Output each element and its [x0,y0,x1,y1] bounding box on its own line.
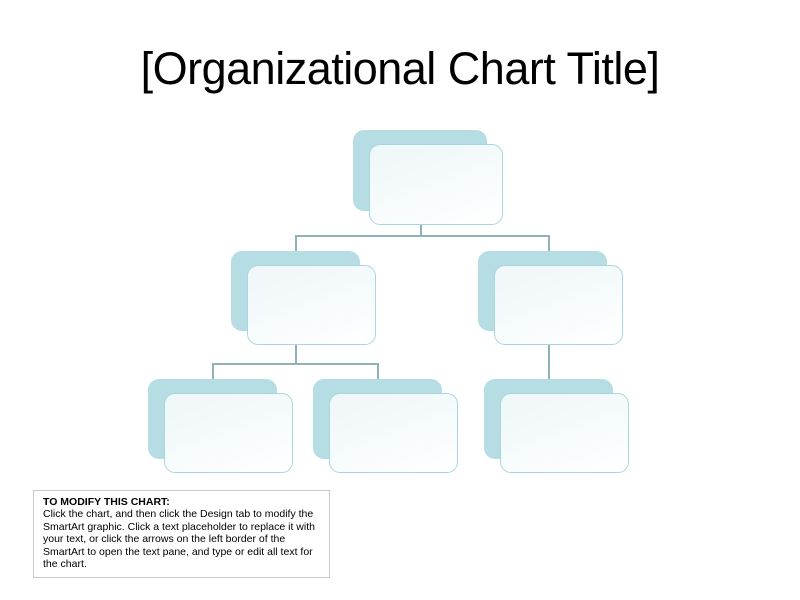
org-node-label[interactable] [164,393,293,473]
org-node-level2-left[interactable] [231,251,360,331]
slide-canvas: [Organizational Chart Title] [0,0,800,600]
org-node-level2-right[interactable] [478,251,607,331]
instruction-heading: TO MODIFY THIS CHART: [43,496,322,508]
org-node-level3-middle[interactable] [313,379,442,459]
org-node-level3-left[interactable] [148,379,277,459]
connector-level3-bus-left [212,363,379,365]
org-node-label[interactable] [329,393,458,473]
org-node-root[interactable] [353,130,487,211]
org-node-level3-right[interactable] [484,379,613,459]
connector-to-node-6 [548,345,550,381]
org-node-label[interactable] [369,144,503,225]
org-node-label[interactable] [500,393,629,473]
instruction-box[interactable]: TO MODIFY THIS CHART: Click the chart, a… [33,490,330,578]
org-node-label[interactable] [494,265,623,345]
page-title[interactable]: [Organizational Chart Title] [0,45,800,92]
connector-level2-bus [295,235,550,237]
connector-node2-stem [295,345,297,364]
org-node-label[interactable] [247,265,376,345]
instruction-body: Click the chart, and then click the Desi… [43,508,322,570]
